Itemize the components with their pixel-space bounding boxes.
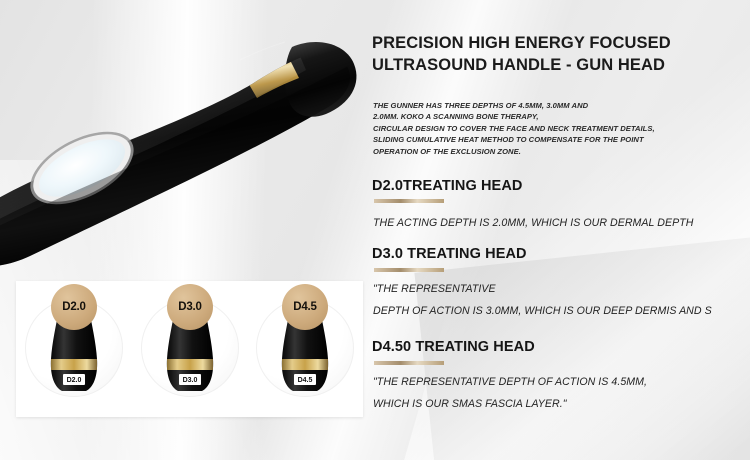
page-title: PRECISION HIGH ENERGY FOCUSED ULTRASOUND… bbox=[372, 32, 702, 76]
probe-gold-band-1 bbox=[51, 359, 97, 370]
section-body-d45-line-2: WHICH IS OUR SMAS FASCIA LAYER." bbox=[373, 396, 750, 412]
probe-card-3[interactable]: D4.5 D4.5 bbox=[247, 281, 363, 417]
section-rule-d2 bbox=[374, 199, 444, 203]
hero-product-photo bbox=[0, 0, 370, 285]
section-body-d3-line-1: "THE REPRESENTATIVE bbox=[373, 281, 750, 297]
page-title-line-2: ULTRASOUND HANDLE - GUN HEAD bbox=[372, 54, 702, 76]
probe-card-1[interactable]: D2.0 D2.0 bbox=[16, 281, 132, 417]
handle-illustration bbox=[0, 0, 370, 285]
intro-line-4: SLIDING CUMULATIVE HEAT METHOD TO COMPEN… bbox=[373, 134, 750, 145]
probe-card-2[interactable]: D3.0 D3.0 bbox=[132, 281, 248, 417]
section-heading-d3: D3.0 TREATING HEAD bbox=[372, 246, 712, 262]
section-heading-d2: D2.0TREATING HEAD bbox=[372, 178, 712, 194]
section-body-d2: THE ACTING DEPTH IS 2.0MM, WHICH IS OUR … bbox=[373, 215, 750, 231]
section-heading-d45: D4.50 TREATING HEAD bbox=[372, 339, 712, 355]
intro-paragraph: THE GUNNER HAS THREE DEPTHS OF 4.5MM, 3.… bbox=[373, 100, 750, 157]
intro-line-3: CIRCULAR DESIGN TO COVER THE FACE AND NE… bbox=[373, 123, 750, 134]
intro-line-2: 2.0MM. KOKO A SCANNING BONE THERAPY, bbox=[373, 111, 750, 122]
probe-gallery-panel: D2.0 D2.0 D3.0 D3.0 D4.5 D4.5 bbox=[16, 281, 363, 417]
probe-gold-band-3 bbox=[282, 359, 328, 370]
probe-gold-band-2 bbox=[167, 359, 213, 370]
marketing-slide: D2.0 D2.0 D3.0 D3.0 D4.5 D4.5 bbox=[0, 0, 750, 460]
section-body-d45: "THE REPRESENTATIVE DEPTH OF ACTION IS 4… bbox=[373, 374, 750, 412]
probe-badge-2: D3.0 bbox=[167, 284, 213, 330]
section-rule-d45 bbox=[374, 361, 444, 365]
section-body-d2-line-1: THE ACTING DEPTH IS 2.0MM, WHICH IS OUR … bbox=[373, 215, 750, 231]
page-title-line-1: PRECISION HIGH ENERGY FOCUSED bbox=[372, 32, 702, 54]
gold-band-highlight bbox=[240, 42, 285, 60]
copy-column: PRECISION HIGH ENERGY FOCUSED ULTRASOUND… bbox=[372, 0, 750, 460]
probe-label-text-2: D3.0 bbox=[183, 377, 198, 384]
probe-badge-3: D4.5 bbox=[282, 284, 328, 330]
section-body-d45-line-1: "THE REPRESENTATIVE DEPTH OF ACTION IS 4… bbox=[373, 374, 750, 390]
intro-line-5: OPERATION OF THE EXCLUSION ZONE. bbox=[373, 146, 750, 157]
section-rule-d3 bbox=[374, 268, 444, 272]
section-body-d3-line-2: DEPTH OF ACTION IS 3.0MM, WHICH IS OUR D… bbox=[373, 303, 750, 319]
intro-line-1: THE GUNNER HAS THREE DEPTHS OF 4.5MM, 3.… bbox=[373, 100, 750, 111]
probe-label-text-1: D2.0 bbox=[67, 377, 82, 384]
section-body-d3: "THE REPRESENTATIVE DEPTH OF ACTION IS 3… bbox=[373, 281, 750, 319]
probe-badge-1: D2.0 bbox=[51, 284, 97, 330]
probe-label-text-3: D4.5 bbox=[298, 377, 313, 384]
